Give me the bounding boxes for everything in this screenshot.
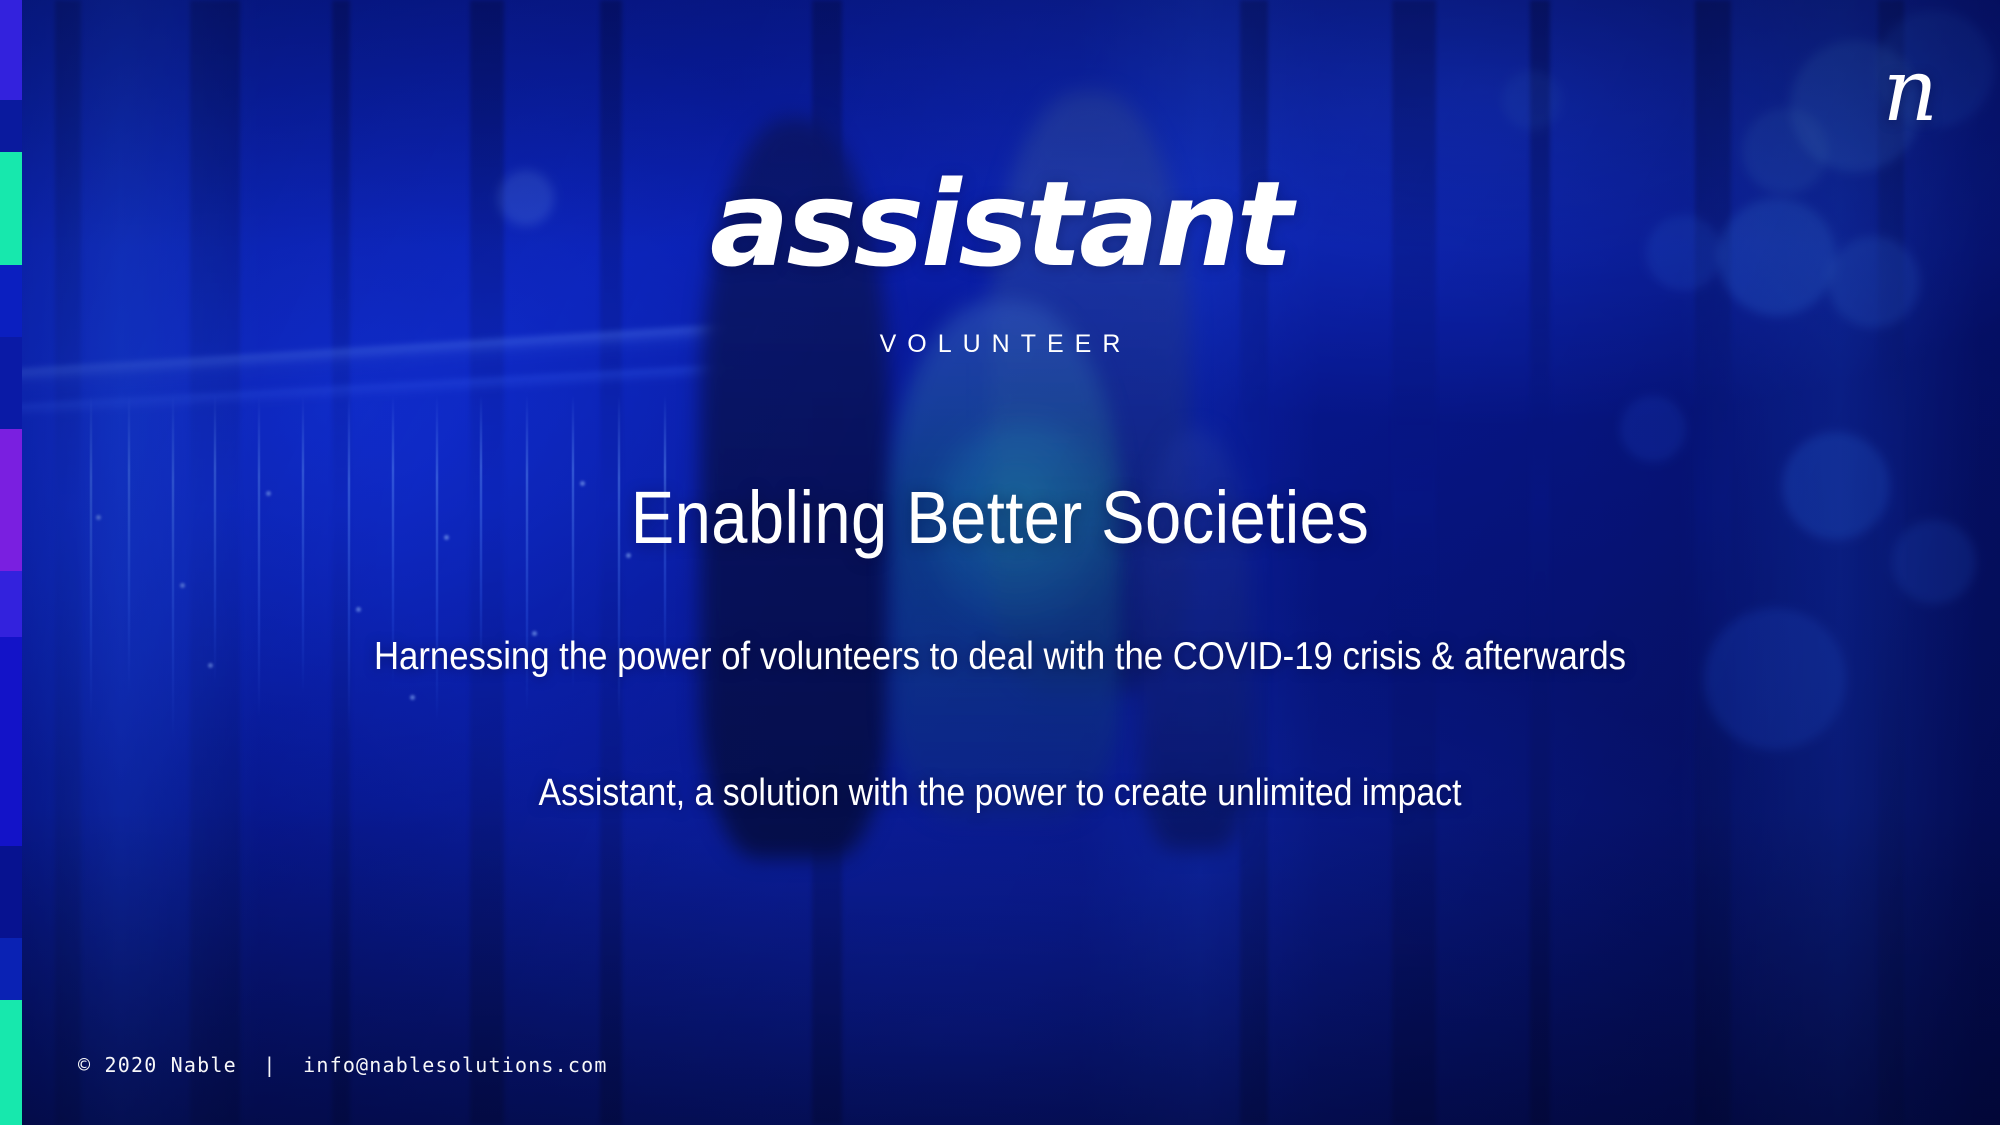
assistant-wordmark: assistant: [0, 165, 2000, 283]
product-line-label: VOLUNTEER: [0, 330, 2000, 359]
page-title: Enabling Better Societies: [120, 475, 1880, 560]
page-subtitle: Harnessing the power of volunteers to de…: [110, 635, 1890, 679]
page-tagline: Assistant, a solution with the power to …: [110, 772, 1890, 815]
presentation-slide: assistant VOLUNTEER Enabling Better Soci…: [0, 0, 2000, 1125]
nable-monogram-icon: n: [1883, 48, 1938, 134]
slide-content: assistant VOLUNTEER Enabling Better Soci…: [0, 0, 2000, 1125]
footer-copyright: © 2020 Nable | info@nablesolutions.com: [78, 1053, 608, 1077]
